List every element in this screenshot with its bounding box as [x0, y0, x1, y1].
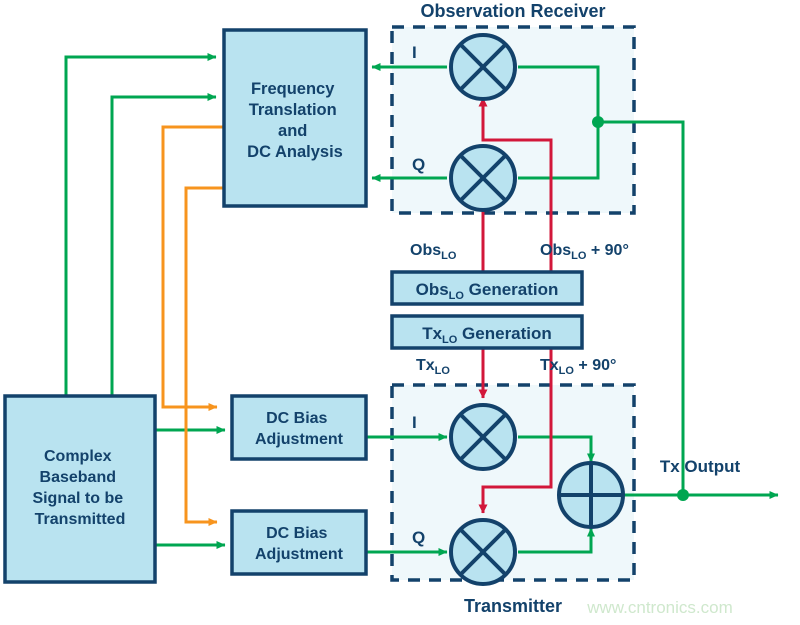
- block-complex-baseband[interactable]: [5, 396, 155, 582]
- wire-freq-to-dcbias-i: [163, 127, 224, 407]
- watermark: www.cntronics.com: [586, 598, 732, 617]
- signal-label-obs-i: I: [412, 43, 417, 62]
- wire-freq-to-dcbias-q: [186, 188, 224, 522]
- block-diagram-canvas: Observation Receiver Transmitter Frequen…: [0, 0, 800, 625]
- mixer-obs-q-icon[interactable]: [451, 146, 515, 210]
- mixer-tx-q-icon[interactable]: [451, 520, 515, 584]
- junction-dot-tx-output: [677, 489, 689, 501]
- panel-title-transmitter: Transmitter: [464, 596, 562, 616]
- signal-label-tx-lo: TxLO: [416, 357, 450, 377]
- mixer-obs-i-icon[interactable]: [451, 35, 515, 99]
- block-label-obs-lo-generation: ObsLO Generation: [416, 280, 559, 302]
- signal-label-obs-lo-90: ObsLO + 90°: [540, 242, 629, 262]
- signal-label-tx-i: I: [412, 413, 417, 432]
- signal-label-obs-lo: ObsLO: [410, 242, 457, 262]
- mixer-tx-i-icon[interactable]: [451, 405, 515, 469]
- panel-title-observation-receiver: Observation Receiver: [420, 1, 605, 21]
- block-dc-bias-q[interactable]: [232, 511, 366, 574]
- wire-baseband-to-freq-1: [66, 57, 216, 396]
- block-label-tx-lo-generation: TxLO Generation: [422, 324, 552, 346]
- block-dc-bias-i[interactable]: [232, 396, 366, 459]
- signal-label-tx-output: Tx Output: [660, 457, 741, 476]
- summing-junction-icon[interactable]: [559, 463, 623, 527]
- signal-label-tx-q: Q: [412, 528, 425, 547]
- signal-label-obs-q: Q: [412, 155, 425, 174]
